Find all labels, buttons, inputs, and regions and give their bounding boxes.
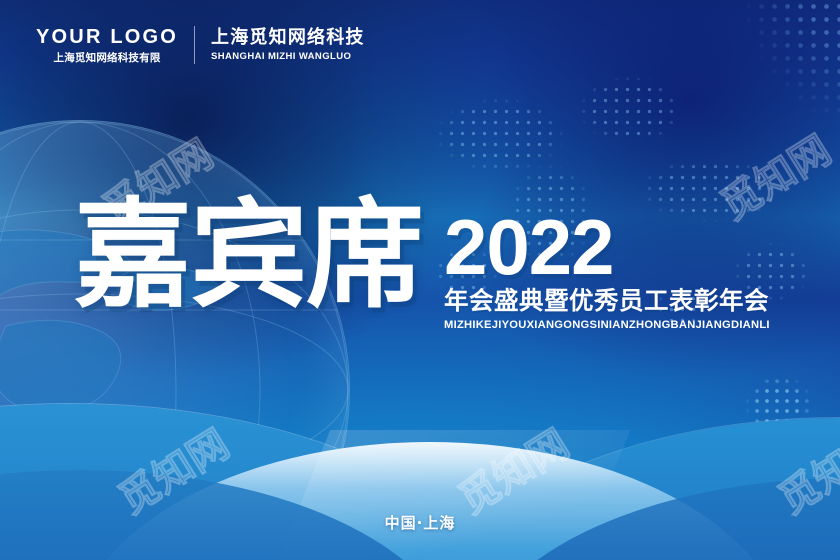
event-subtitle-pinyin: MIZHIKEJIYOUXIANGONGSINIANZHONGBANJIANGD… [444, 320, 770, 331]
title-side-block: 2022 年会盛典暨优秀员工表彰年会 MIZHIKEJIYOUXIANGONGS… [444, 212, 770, 331]
logo-main-text: YOUR LOGO [36, 27, 178, 47]
main-title-block: 嘉宾席 2022 年会盛典暨优秀员工表彰年会 MIZHIKEJIYOUXIANG… [74, 196, 770, 331]
halftone-corner-dots [690, 0, 840, 170]
event-subtitle-cn: 年会盛典暨优秀员工表彰年会 [444, 288, 770, 315]
event-location: 中国·上海 [0, 512, 840, 533]
logo-sub-text: 上海觅知网络科技有限 [36, 53, 178, 64]
logo-block: YOUR LOGO 上海觅知网络科技有限 [36, 27, 194, 64]
event-year: 2022 [444, 212, 770, 284]
company-name-en: SHANGHAI MIZHI WANGLUO [211, 52, 365, 62]
page-title: 嘉宾席 [74, 196, 422, 314]
company-block: 上海觅知网络科技 SHANGHAI MIZHI WANGLUO [195, 28, 365, 62]
event-poster: YOUR LOGO 上海觅知网络科技有限 上海觅知网络科技 SHANGHAI M… [0, 0, 840, 560]
company-name-cn: 上海觅知网络科技 [211, 28, 365, 46]
header-logo-bar: YOUR LOGO 上海觅知网络科技有限 上海觅知网络科技 SHANGHAI M… [36, 26, 365, 64]
